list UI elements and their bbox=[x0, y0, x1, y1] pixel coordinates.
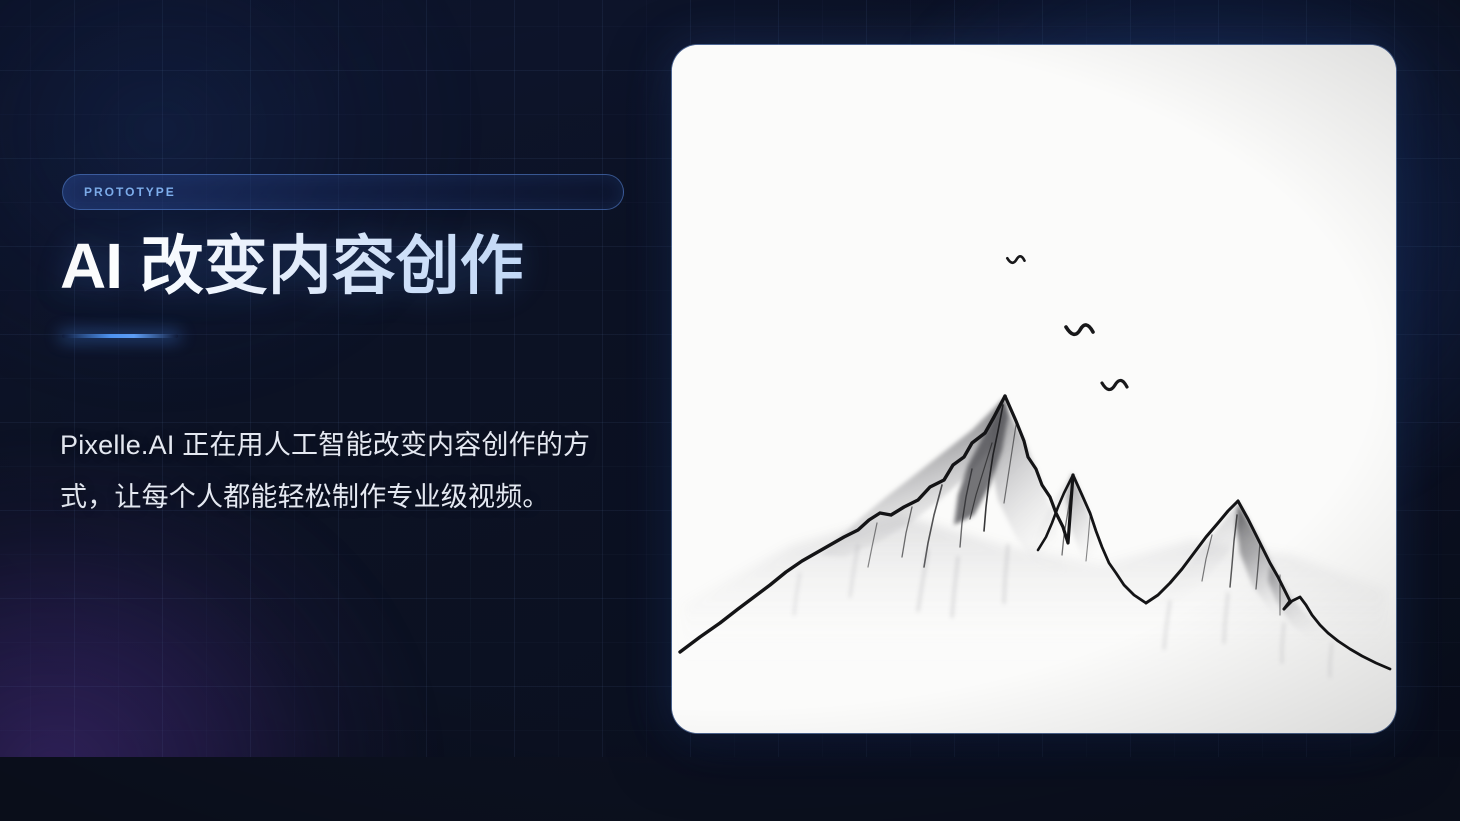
illustration-card-wrapper bbox=[672, 45, 1396, 733]
slide-root: PROTOTYPE AI 改变内容创作 Pixelle.AI 正在用人工智能改变… bbox=[0, 0, 1460, 821]
prototype-badge-label: PROTOTYPE bbox=[84, 185, 176, 199]
page-title-latin: AI bbox=[60, 230, 122, 302]
illustration-card bbox=[672, 45, 1396, 733]
prototype-badge: PROTOTYPE bbox=[62, 174, 624, 210]
left-column bbox=[0, 0, 660, 821]
title-accent-bar bbox=[62, 334, 178, 338]
page-title: AI 改变内容创作 bbox=[60, 232, 524, 301]
page-title-cjk: 改变内容创作 bbox=[140, 230, 524, 302]
body-paragraph: Pixelle.AI 正在用人工智能改变内容创作的方式，让每个人都能轻松制作专业… bbox=[60, 420, 626, 524]
mountain-ink-painting-icon bbox=[672, 45, 1396, 733]
